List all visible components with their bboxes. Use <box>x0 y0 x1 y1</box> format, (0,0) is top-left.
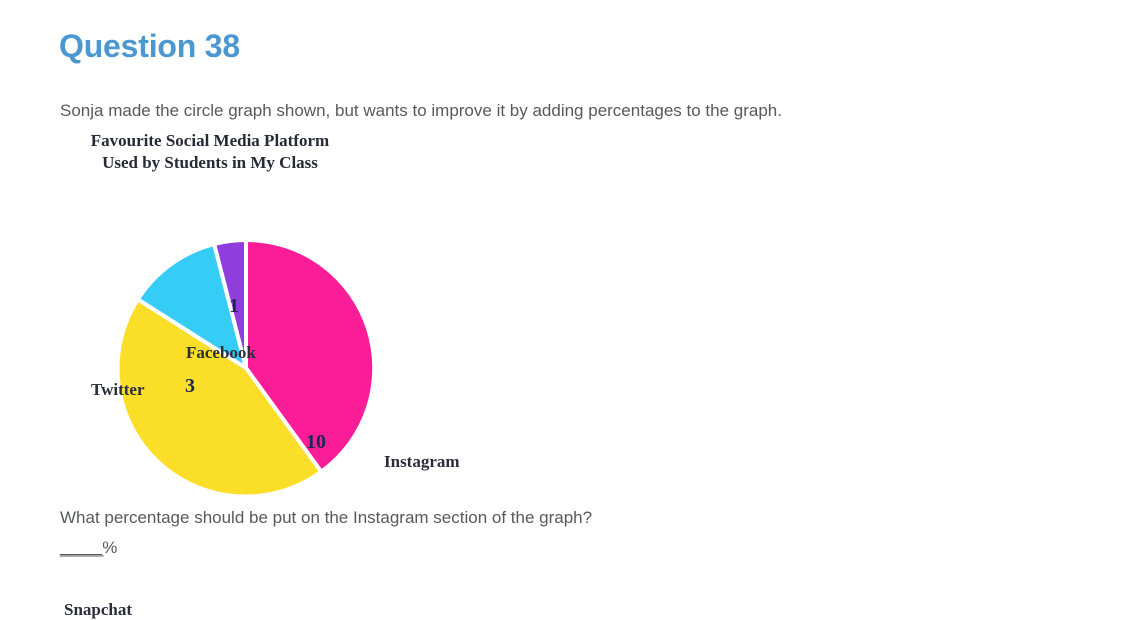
pie-label-facebook: Facebook <box>186 343 256 363</box>
answer-blank-input[interactable]: _____ <box>60 538 102 557</box>
answer-question-text: What percentage should be put on the Ins… <box>60 508 592 528</box>
pie-label-twitter: Twitter <box>91 380 145 400</box>
pie-chart-figure: Favourite Social Media Platform Used by … <box>0 130 560 505</box>
chart-title-line-1: Favourite Social Media Platform <box>0 130 420 152</box>
pie-label-snapchat: Snapchat <box>64 600 132 620</box>
slice-value-facebook: 1 <box>229 295 239 317</box>
question-prompt: Sonja made the circle graph shown, but w… <box>60 101 782 121</box>
question-page: Question 38 Sonja made the circle graph … <box>0 0 1137 585</box>
answer-input-row: _____% <box>60 538 117 558</box>
chart-title: Favourite Social Media Platform Used by … <box>0 130 420 174</box>
answer-unit-label: % <box>102 538 117 557</box>
slice-value-twitter: 3 <box>185 375 195 397</box>
pie-label-instagram: Instagram <box>384 452 460 472</box>
page-title: Question 38 <box>59 28 240 65</box>
slice-value-instagram: 10 <box>306 431 326 453</box>
chart-title-line-2: Used by Students in My Class <box>0 152 420 174</box>
